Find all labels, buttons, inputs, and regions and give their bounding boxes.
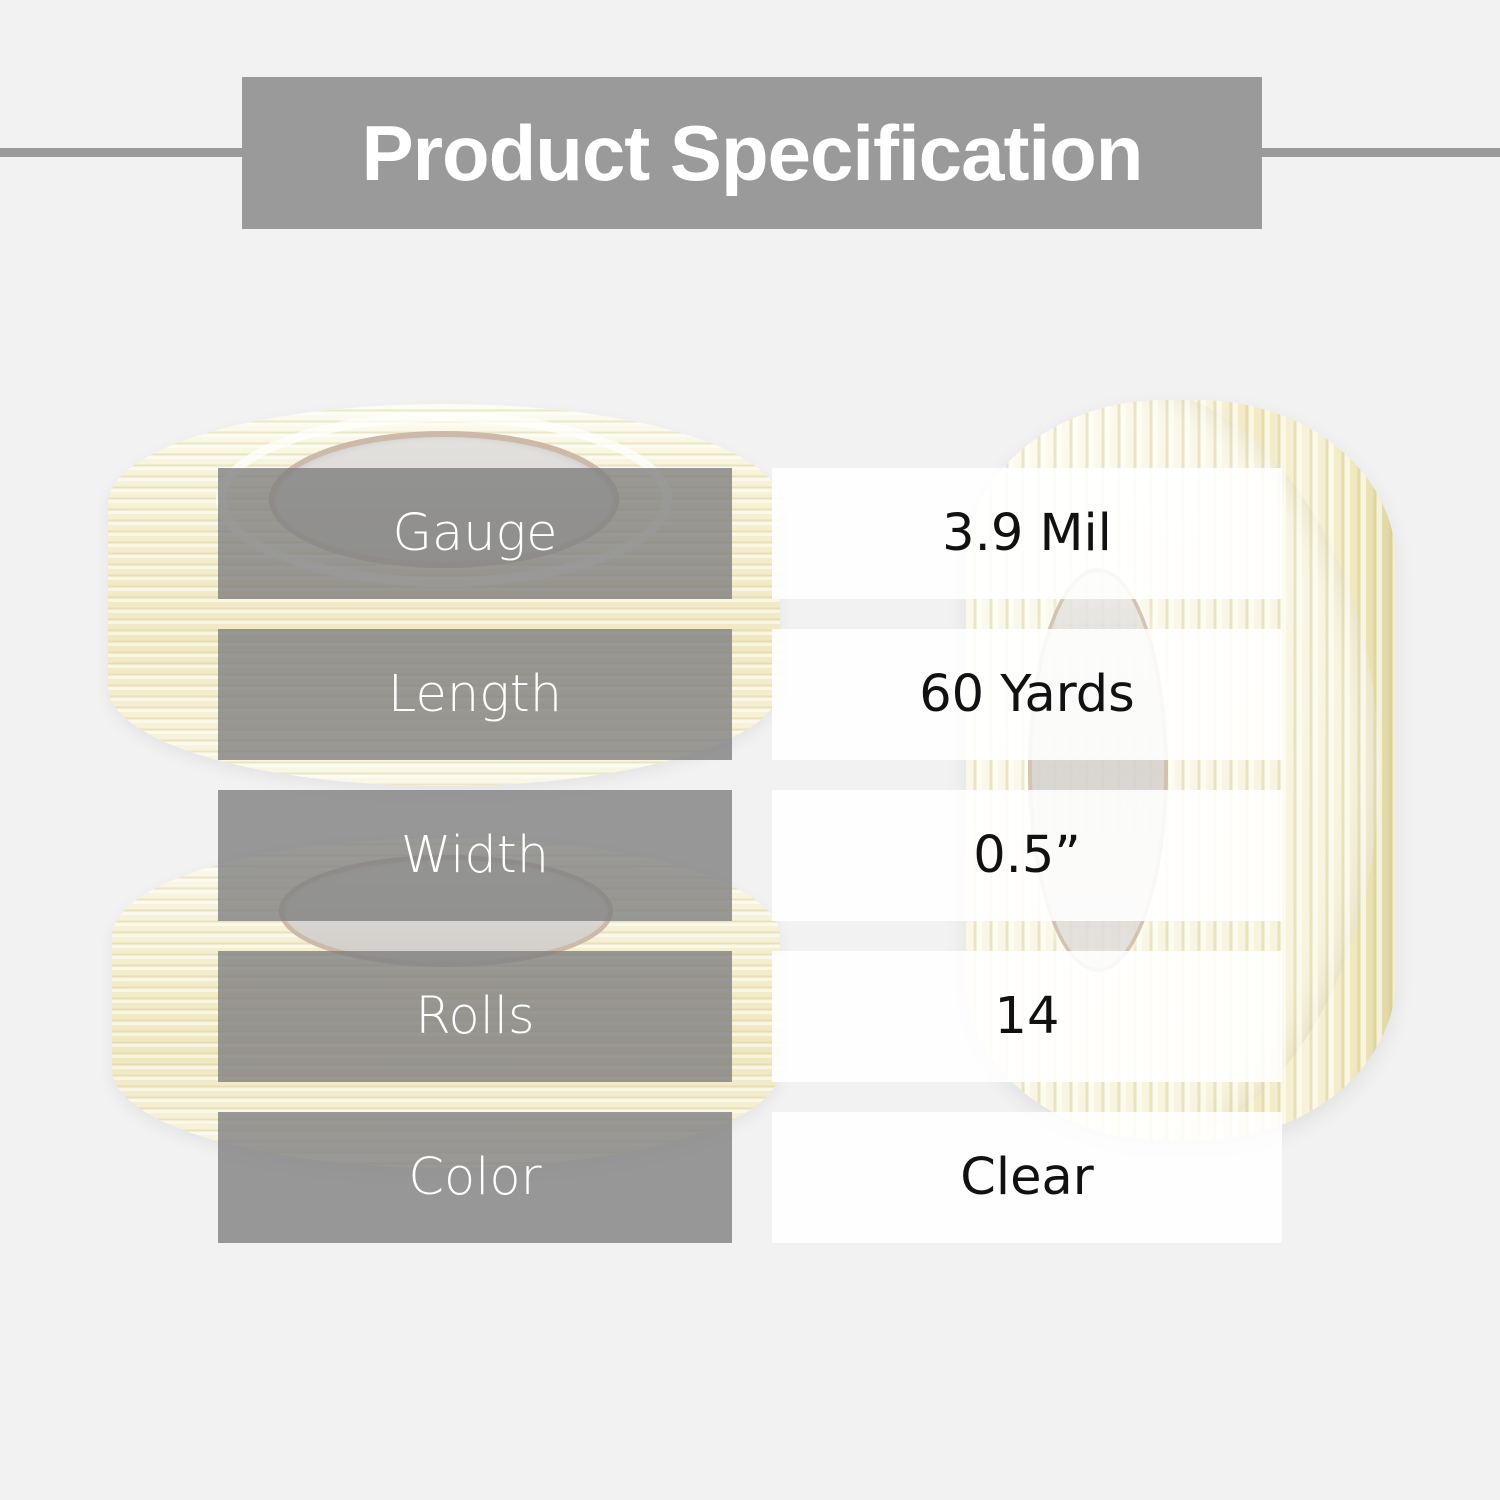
spec-value-cell-length: 60 Yards: [772, 629, 1282, 760]
spec-label-color: Color: [408, 1152, 541, 1203]
spec-value-rolls: 14: [995, 991, 1060, 1042]
spec-label-cell-length: Length: [218, 629, 732, 760]
product-specification-card: Product Specification Gauge 3.9 Mil: [0, 0, 1500, 1500]
spec-label-length: Length: [388, 669, 562, 720]
spec-label-cell-width: Width: [218, 790, 732, 921]
spec-value-cell-rolls: 14: [772, 951, 1282, 1082]
spec-label-cell-gauge: Gauge: [218, 468, 732, 599]
spec-label-rolls: Rolls: [415, 991, 534, 1042]
spec-label-cell-rolls: Rolls: [218, 951, 732, 1082]
spec-value-width: 0.5”: [973, 830, 1081, 881]
spec-value-color: Clear: [960, 1152, 1093, 1203]
spec-label-gauge: Gauge: [392, 508, 557, 559]
spec-value-length: 60 Yards: [919, 669, 1135, 720]
spec-label-cell-color: Color: [218, 1112, 732, 1243]
spec-value-cell-color: Clear: [772, 1112, 1282, 1243]
spec-value-gauge: 3.9 Mil: [942, 508, 1112, 559]
spec-value-cell-width: 0.5”: [772, 790, 1282, 921]
spec-label-width: Width: [401, 830, 549, 881]
spec-value-cell-gauge: 3.9 Mil: [772, 468, 1282, 599]
